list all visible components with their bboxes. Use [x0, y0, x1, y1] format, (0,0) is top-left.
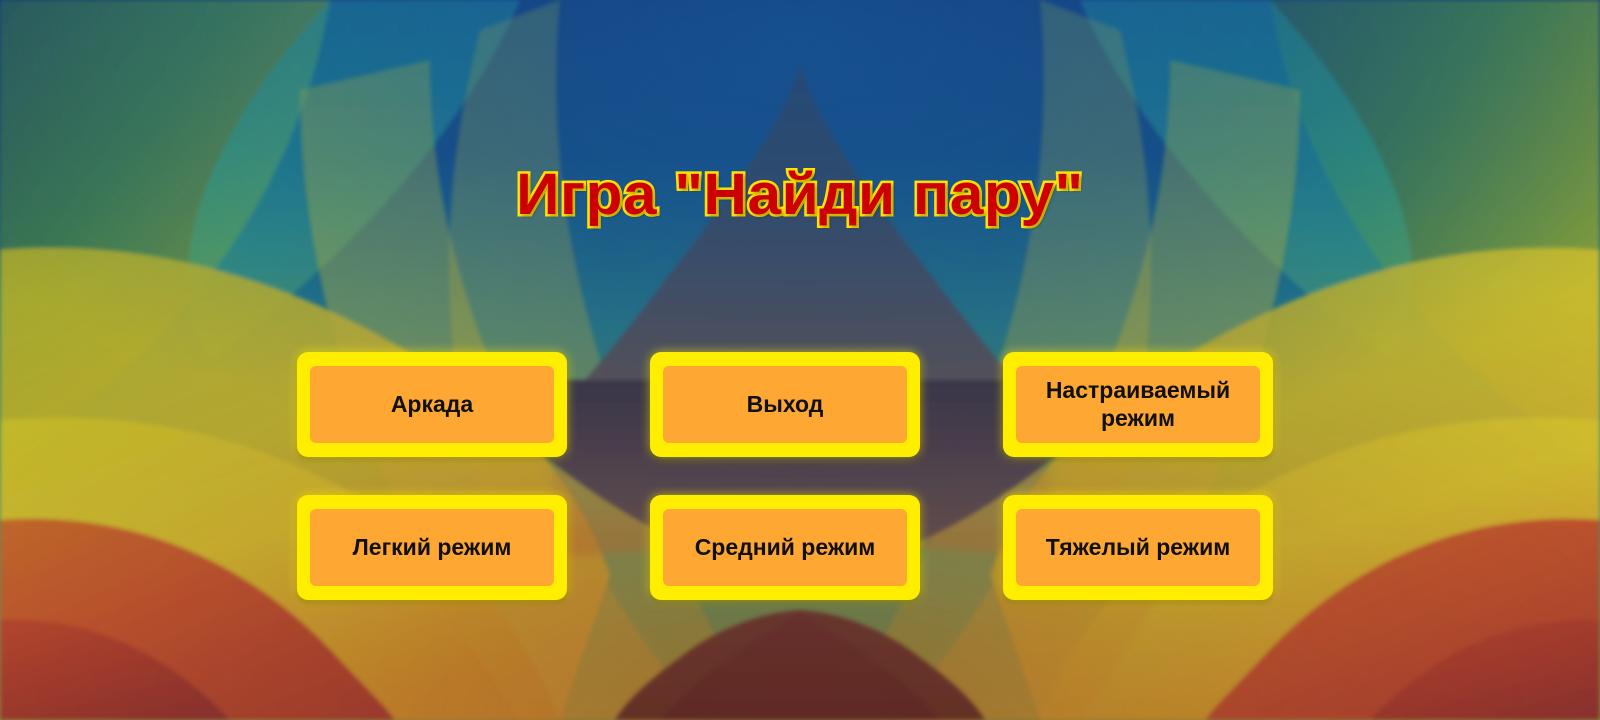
title-area: Игра "Найди пару"	[0, 166, 1600, 224]
menu-button-easy-mode-face: Легкий режим	[310, 509, 554, 586]
menu-button-easy-mode[interactable]: Легкий режим	[297, 495, 567, 600]
menu-button-medium-mode[interactable]: Средний режим	[650, 495, 920, 600]
menu-button-easy-mode-label: Легкий режим	[349, 534, 516, 561]
menu-button-medium-mode-face: Средний режим	[663, 509, 907, 586]
menu-button-exit-label: Выход	[743, 391, 828, 418]
main-menu-grid: Аркада Выход Настраиваемый режим Легкий …	[297, 352, 1273, 600]
menu-button-arcade[interactable]: Аркада	[297, 352, 567, 457]
content-layer: Игра "Найди пару" Аркада Выход Настраива…	[0, 0, 1600, 720]
menu-button-arcade-face: Аркада	[310, 366, 554, 443]
menu-button-custom-mode-label: Настраиваемый режим	[1038, 377, 1238, 431]
game-screen: Игра "Найди пару" Аркада Выход Настраива…	[0, 0, 1600, 720]
menu-button-hard-mode-label: Тяжелый режим	[1042, 534, 1234, 561]
page-title: Игра "Найди пару"	[516, 166, 1084, 224]
menu-button-custom-mode-face: Настраиваемый режим	[1016, 366, 1260, 443]
menu-button-custom-mode[interactable]: Настраиваемый режим	[1003, 352, 1273, 457]
menu-button-exit[interactable]: Выход	[650, 352, 920, 457]
menu-button-exit-face: Выход	[663, 366, 907, 443]
menu-button-hard-mode[interactable]: Тяжелый режим	[1003, 495, 1273, 600]
menu-button-arcade-label: Аркада	[387, 391, 477, 418]
menu-button-medium-mode-label: Средний режим	[691, 534, 880, 561]
menu-button-hard-mode-face: Тяжелый режим	[1016, 509, 1260, 586]
